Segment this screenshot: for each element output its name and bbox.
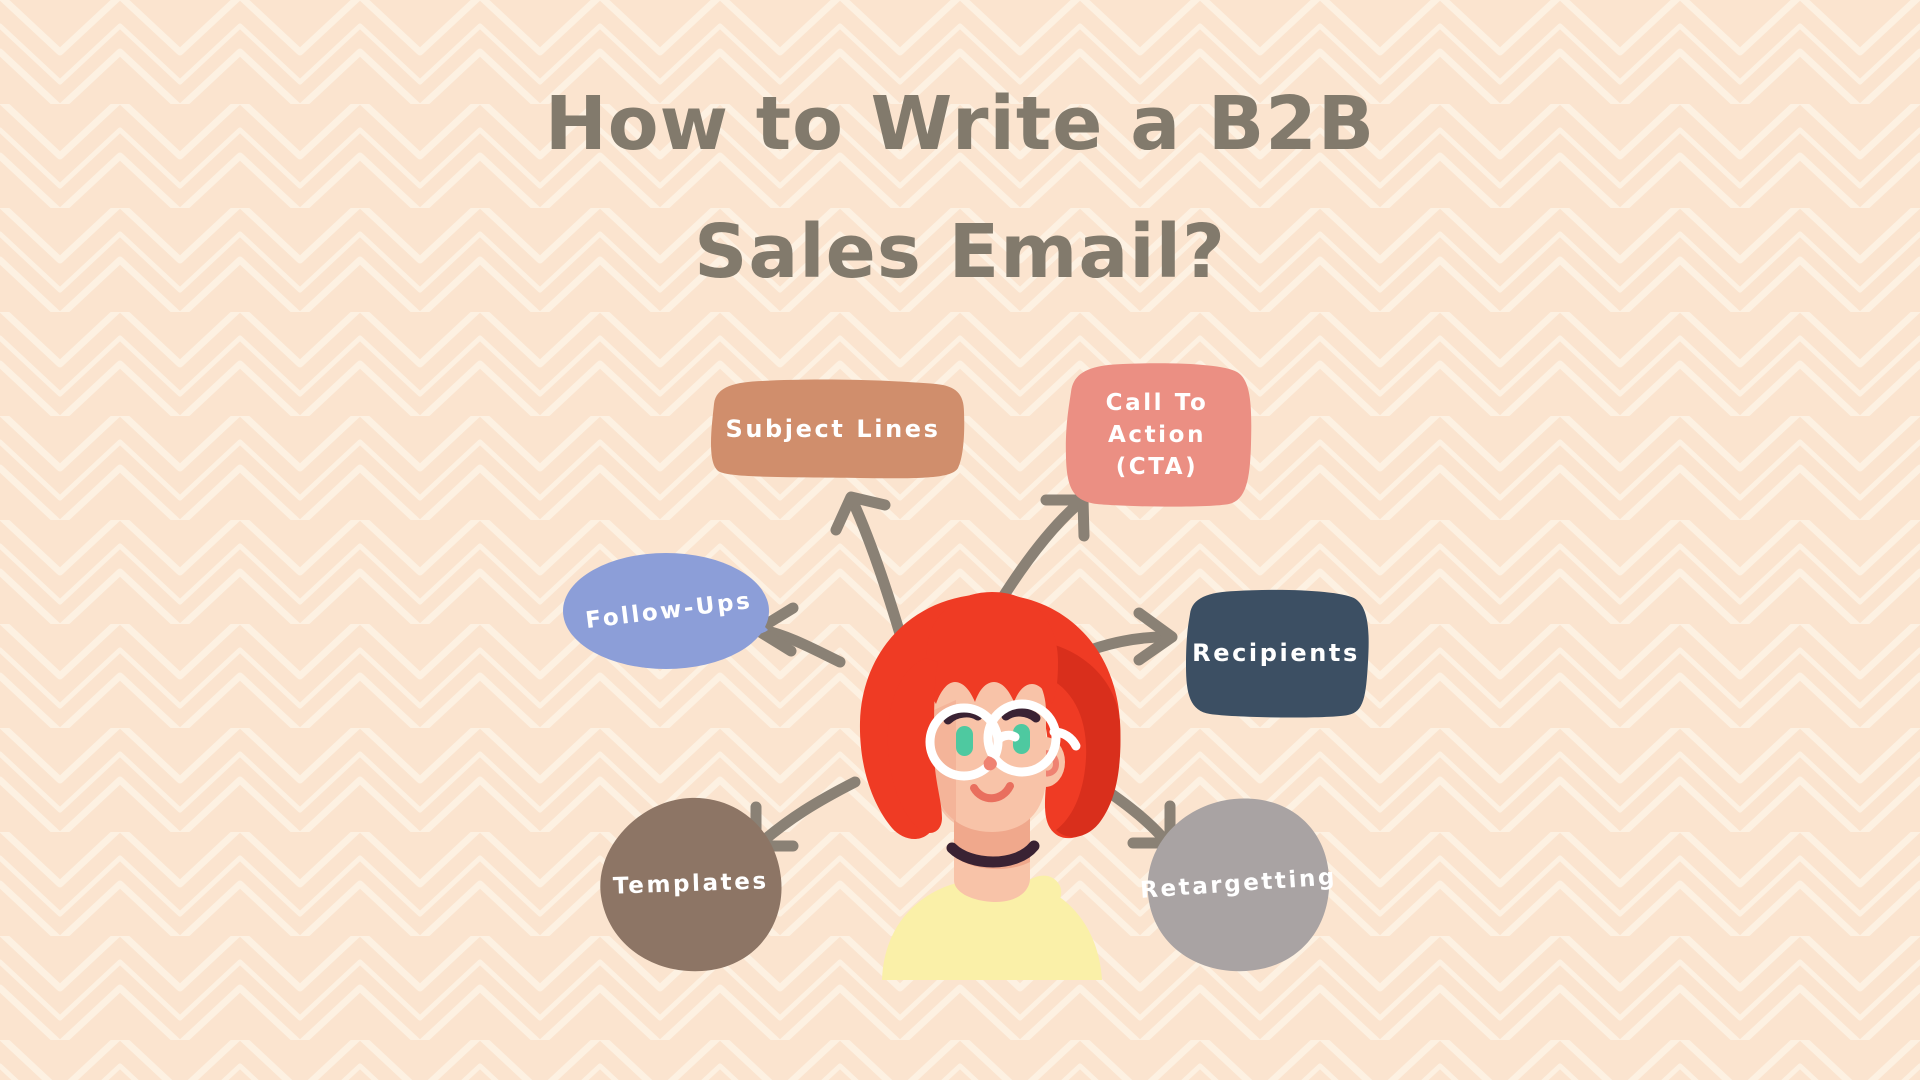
node-templates[interactable]: Templates [598, 796, 784, 972]
node-label-subject-lines: Subject Lines [713, 413, 952, 445]
title-line-1: How to Write a B2B [0, 60, 1920, 188]
node-retargetting[interactable]: Retargetting [1146, 796, 1332, 972]
node-label-templates: Templates [601, 865, 782, 903]
title-line-2: Sales Email? [0, 188, 1920, 316]
node-call-to-action[interactable]: Call To Action (CTA) [1061, 362, 1253, 507]
character-illustration [830, 580, 1150, 980]
page-title: How to Write a B2B Sales Email? [0, 60, 1920, 316]
node-label-call-to-action: Call To Action (CTA) [1061, 387, 1253, 483]
infographic-canvas: How to Write a B2B Sales Email? [0, 0, 1920, 1080]
node-subject-lines[interactable]: Subject Lines [700, 378, 966, 480]
node-recipients[interactable]: Recipients [1182, 588, 1370, 718]
character-eye-left [956, 726, 973, 756]
node-label-recipients: Recipients [1180, 637, 1372, 669]
node-follow-ups[interactable]: Follow-Ups [562, 552, 775, 670]
